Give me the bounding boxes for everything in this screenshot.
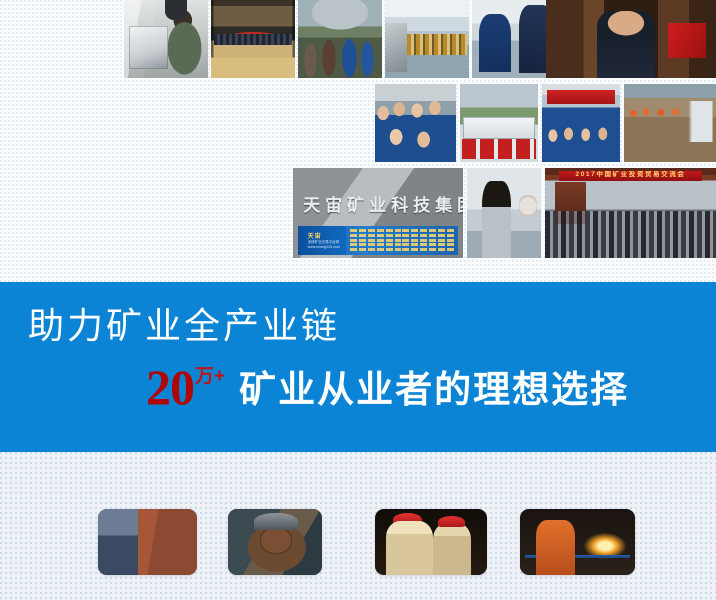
photo-field-lineup-image	[624, 84, 716, 162]
photo-lab-woman	[467, 168, 541, 258]
banner-count-suffix: 万+	[195, 367, 225, 386]
photo-conference-hall	[211, 0, 295, 78]
banner-member-count: 20	[146, 365, 194, 410]
photo-jiugou-goldmine	[542, 84, 620, 162]
signboard-info-panel: 天宙全球矿业交易平台网www.mining126.com	[298, 226, 458, 256]
photo-conference-hall-image	[211, 0, 295, 78]
signboard-company-name: 天宙矿业科技集团	[303, 191, 453, 216]
photo-jiugou-goldmine-image	[542, 84, 620, 162]
photo-workshop-pair	[472, 0, 556, 78]
banner-headline-line2: 20 万+ 矿业从业者的理想选择	[146, 365, 629, 410]
thumb-smiling-miner[interactable]	[228, 509, 322, 575]
conference-banner-text: 2017中国矿业投资贸易交流会	[559, 171, 703, 181]
photo-conference-group: 2017中国矿业投资贸易交流会	[545, 168, 716, 258]
photo-sample-bottles	[385, 0, 469, 78]
photo-mountain-team	[298, 0, 382, 78]
photo-lab-technician	[124, 0, 208, 78]
photo-company-signboard: 天宙矿业科技集团天宙全球矿业交易平台网www.mining126.com	[293, 168, 463, 258]
photo-mountain-team-image	[298, 0, 382, 78]
signboard-panel-brand: 天宙全球矿业交易平台网www.mining126.com	[298, 226, 346, 256]
photo-company-signboard-image: 天宙矿业科技集团天宙全球矿业交易平台网www.mining126.com	[293, 168, 463, 258]
industry-thumbnail-strip	[0, 452, 716, 600]
photo-crew-group	[375, 84, 456, 162]
thumb-miner-pair-image	[375, 509, 487, 575]
thumb-smiling-miner-image	[228, 509, 322, 575]
thumb-miner-pair[interactable]	[375, 509, 487, 575]
photo-crew-group-image	[375, 84, 456, 162]
thumb-geologist-field-image	[98, 509, 197, 575]
photo-sample-bottles-image	[385, 0, 469, 78]
photo-banner-rally	[460, 84, 538, 162]
photo-chairman-office	[546, 0, 716, 78]
photo-chairman-office-image	[546, 0, 716, 78]
thumb-smelter-worker-image	[520, 509, 635, 575]
promo-banner: 助力矿业全产业链 20 万+ 矿业从业者的理想选择	[0, 282, 716, 452]
signboard-panel-text-lines	[346, 226, 458, 256]
banner-headline-line1: 助力矿业全产业链	[28, 308, 340, 344]
company-photo-collage: 天宙矿业科技集团天宙全球矿业交易平台网www.mining126.com2017…	[0, 0, 716, 282]
photo-conference-group-image: 2017中国矿业投资贸易交流会	[545, 168, 716, 258]
photo-field-lineup	[624, 84, 716, 162]
thumb-geologist-field[interactable]	[98, 509, 197, 575]
photo-lab-woman-image	[467, 168, 541, 258]
thumb-smelter-worker[interactable]	[520, 509, 635, 575]
photo-banner-rally-image	[460, 84, 538, 162]
photo-workshop-pair-image	[472, 0, 556, 78]
banner-headline-text: 矿业从业者的理想选择	[239, 371, 629, 410]
photo-lab-technician-image	[124, 0, 208, 78]
